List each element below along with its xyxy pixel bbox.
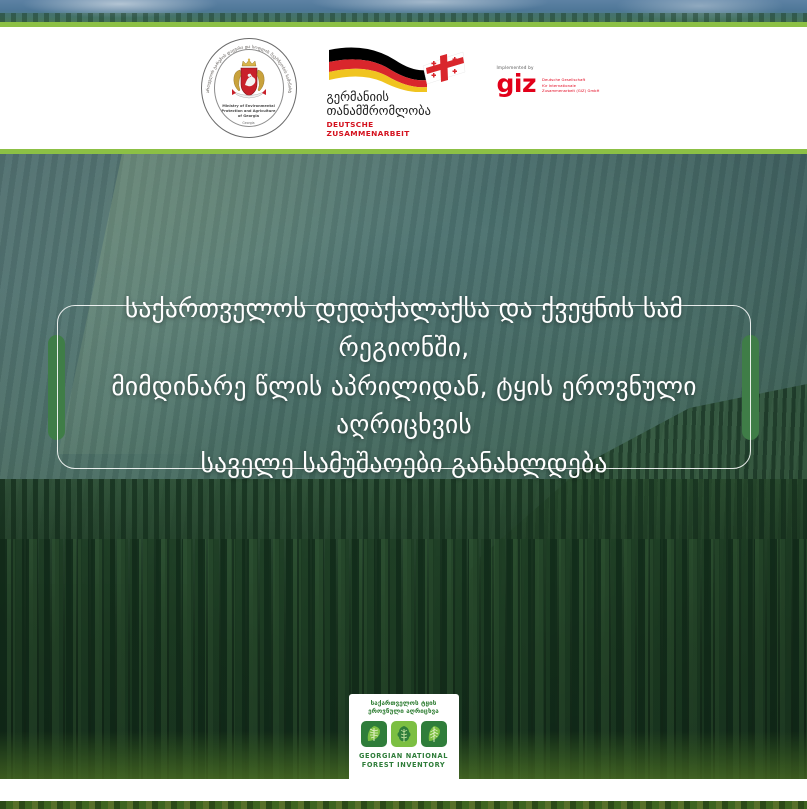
gc-ka-line2: თანამშრომლობა (327, 104, 445, 118)
conifer-leaf-icon (421, 721, 447, 747)
bottom-white-band (0, 779, 807, 801)
oak-leaf-icon (391, 721, 417, 747)
poster-root: საქართველოს გარემოს დაცვისა და სოფლის მე… (0, 0, 807, 809)
german-georgian-flag-ribbon-icon (327, 42, 467, 92)
gnfi-ka-line1: საქართველოს ტყის (354, 700, 454, 708)
headline-line-3: საველე სამუშაოები განახლდება (74, 445, 734, 484)
headline-line-2: მიმდინარე წლის აპრილიდან, ტყის ეროვნული … (74, 368, 734, 446)
giz-logo-block: Implemented by giz Deutsche Gesellschaft… (497, 65, 607, 123)
gnfi-leaf-tiles (354, 721, 454, 747)
broadleaf-leaf-icon (361, 721, 387, 747)
top-photo-sliver (0, 0, 807, 22)
deutsche-zusammenarbeit-label: DEUTSCHE ZUSAMMENARBEIT (327, 120, 451, 138)
gnfi-logo: საქართველოს ტყის ეროვნული აღრიცხვა (349, 694, 459, 782)
giz-wordmark: giz (497, 73, 537, 95)
gnfi-en-line2: FOREST INVENTORY (354, 761, 454, 770)
gc-ka-line1: გერმანიის (327, 90, 445, 104)
headline-text: საქართველოს დედაქალაქსა და ქვეყნის სამ რ… (74, 290, 734, 484)
seal-english-text: Ministry of Environmental Protection and… (218, 104, 280, 125)
seal-en-line2: Protection and Agriculture (218, 109, 280, 114)
top-treeline (0, 13, 807, 22)
gnfi-georgian-text: საქართველოს ტყის ეროვნული აღრიცხვა (354, 700, 454, 716)
seal-en-line3: of Georgia (218, 114, 280, 119)
partner-logo-band: საქართველოს გარემოს დაცვისა და სოფლის მე… (0, 27, 807, 149)
giz-row: giz Deutsche Gesellschaft für Internatio… (497, 73, 607, 95)
headline-line-1: საქართველოს დედაქალაქსა და ქვეყნის სამ რ… (74, 290, 734, 368)
ministry-seal-logo: საქართველოს გარემოს დაცვისა და სოფლის მე… (201, 38, 297, 138)
bottom-photo-strip (0, 801, 807, 809)
gnfi-ka-line2: ეროვნული აღრიცხვა (354, 708, 454, 716)
headline-frame: საქართველოს დედაქალაქსა და ქვეყნის სამ რ… (57, 305, 751, 469)
giz-sub-line3: Zusammenarbeit (GIZ) GmbH (542, 89, 599, 95)
german-cooperation-logo: გერმანიის თანამშრომლობა DEUTSCHE ZUSAMME… (327, 42, 467, 134)
gnfi-english-text: GEORGIAN NATIONAL FOREST INVENTORY (354, 752, 454, 769)
seal-en-sub: Georgia (218, 121, 280, 125)
georgian-coat-of-arms-icon (222, 58, 276, 102)
gnfi-en-line1: GEORGIAN NATIONAL (354, 752, 454, 761)
german-cooperation-georgian-text: გერმანიის თანამშრომლობა (327, 90, 445, 118)
giz-full-name: Deutsche Gesellschaft für Internationale… (542, 78, 599, 95)
